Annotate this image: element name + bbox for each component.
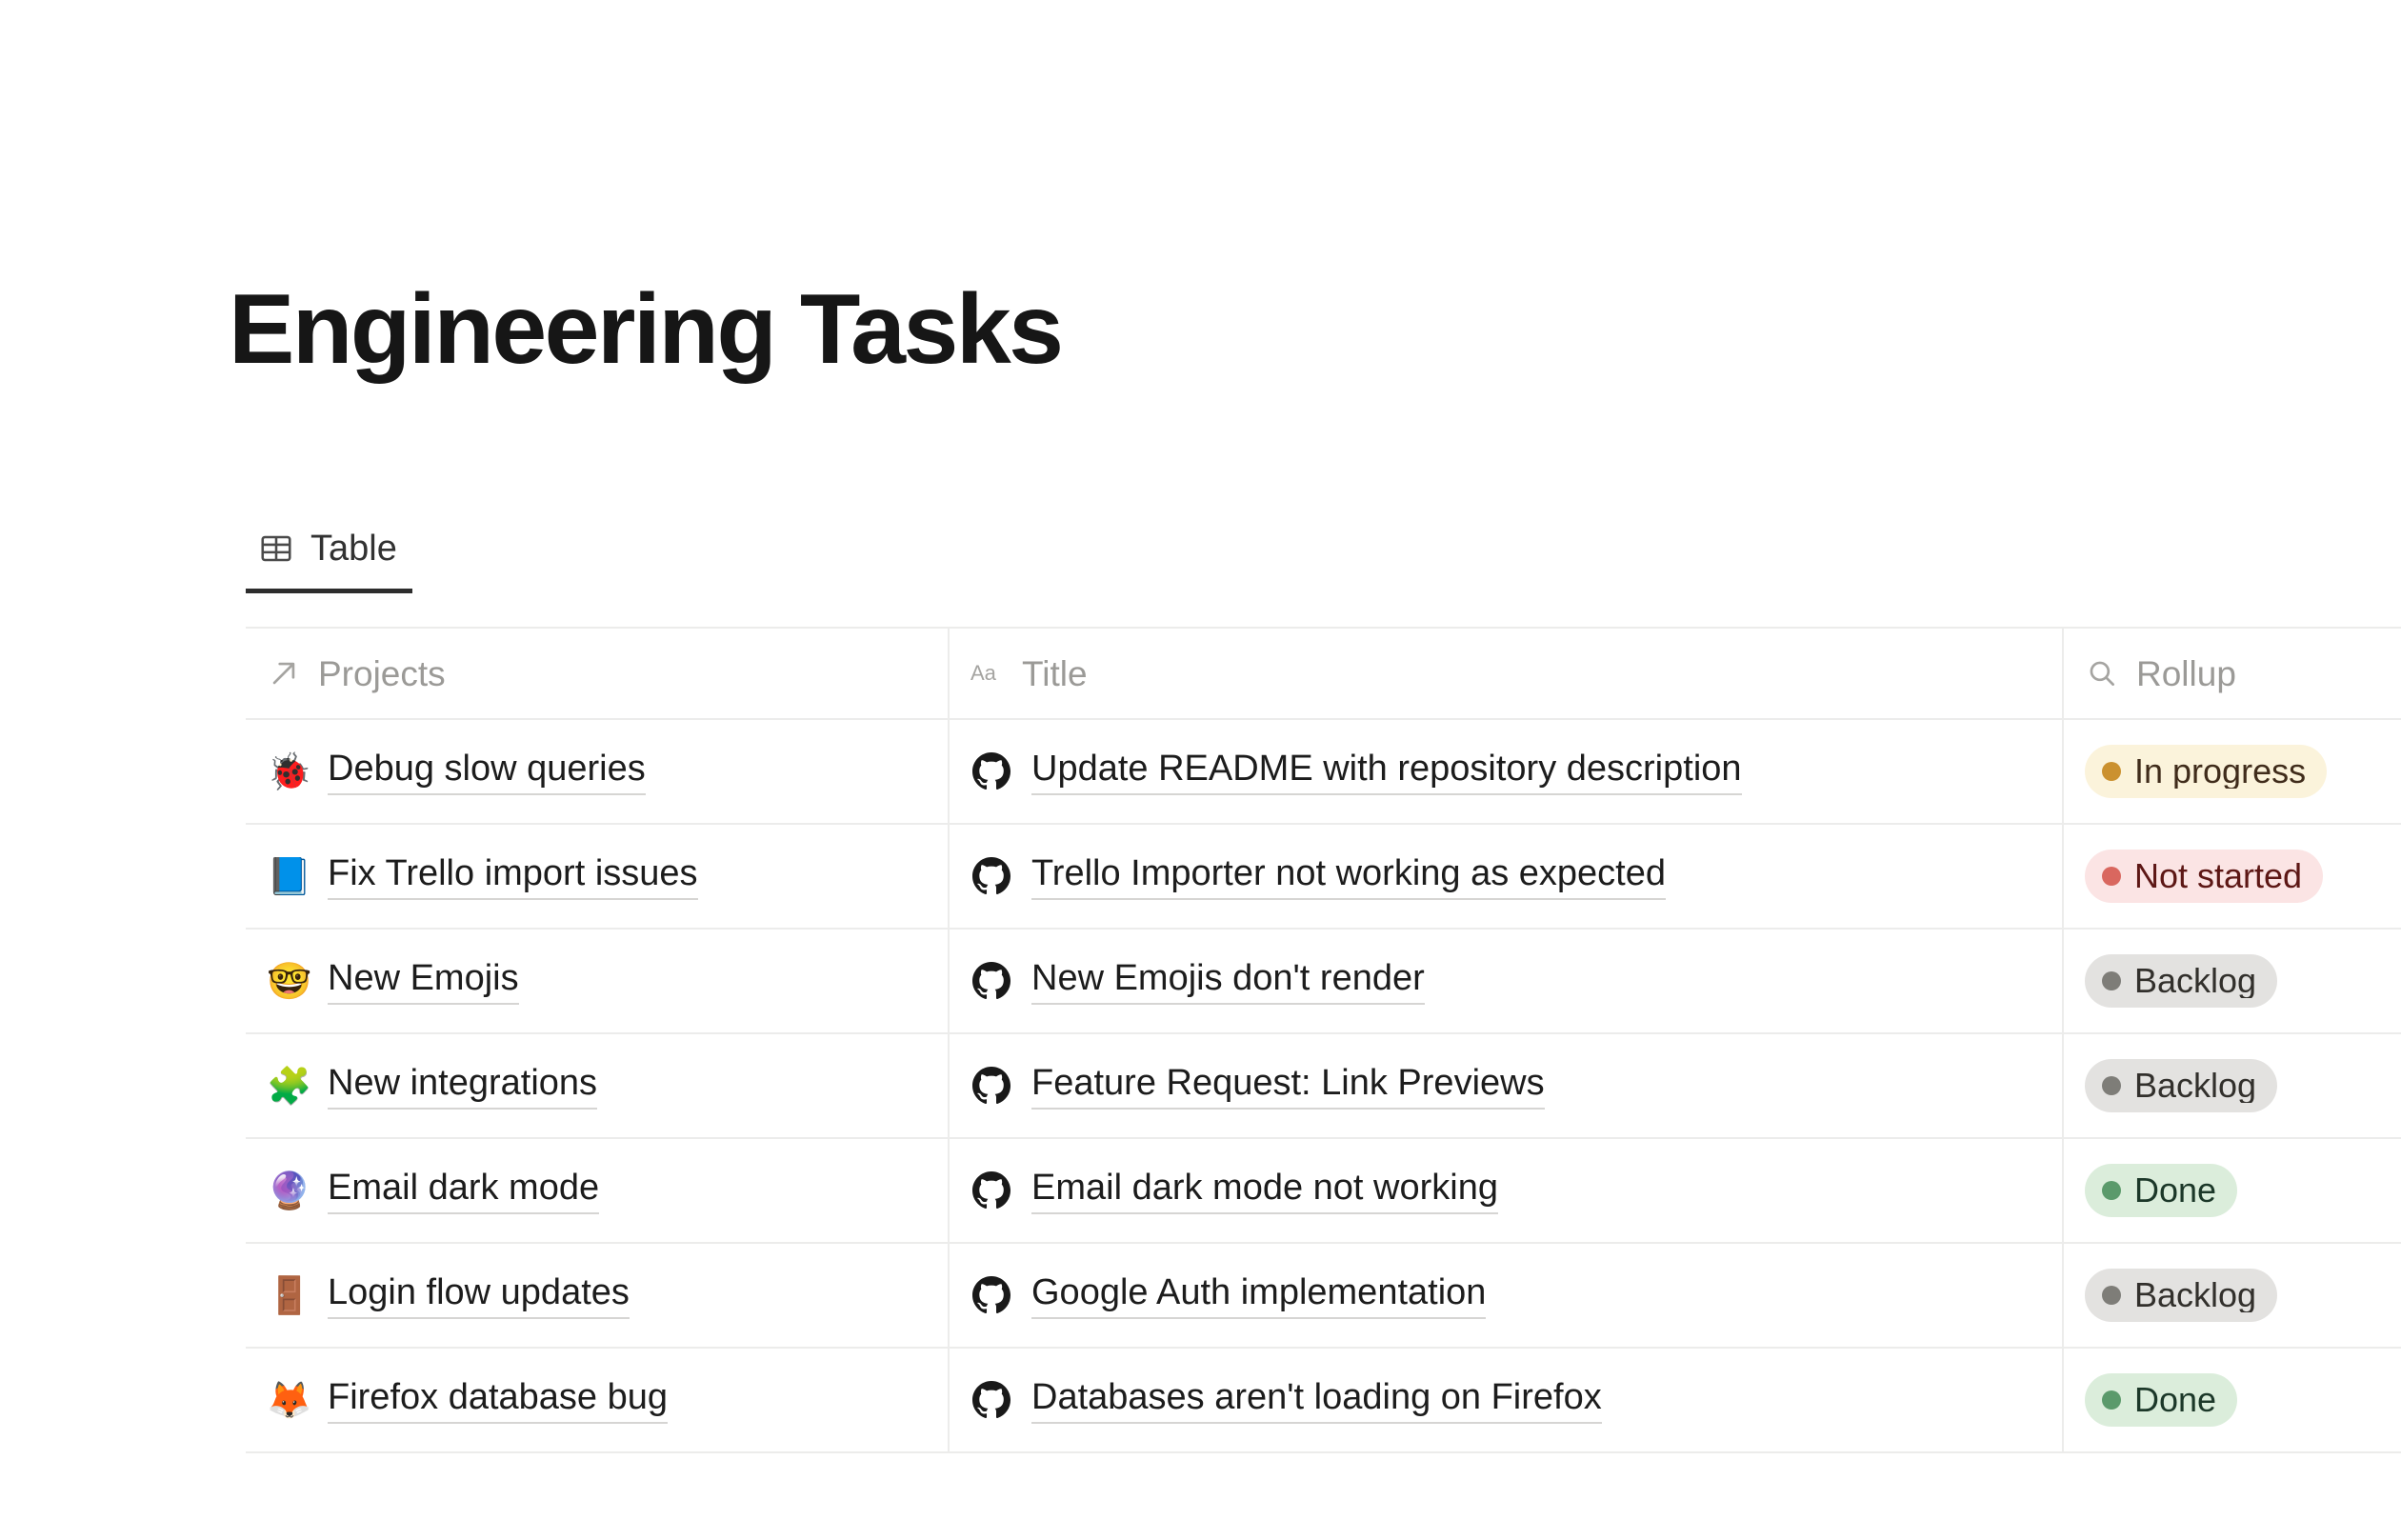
cell-title[interactable]: Google Auth implementation — [948, 1244, 2062, 1347]
project-link[interactable]: Login flow updates — [328, 1271, 630, 1319]
cell-title[interactable]: Databases aren't loading on Firefox — [948, 1349, 2062, 1451]
status-dot — [2102, 1181, 2121, 1200]
cell-rollup[interactable]: Backlog — [2062, 1244, 2401, 1347]
title-link[interactable]: Feature Request: Link Previews — [1031, 1062, 1545, 1110]
status-badge: Backlog — [2085, 1059, 2277, 1112]
github-icon — [970, 1065, 1012, 1107]
title-link[interactable]: Update README with repository descriptio… — [1031, 748, 1742, 795]
cell-rollup[interactable]: Done — [2062, 1349, 2401, 1451]
table-row[interactable]: 🚪 Login flow updates Google Auth impleme… — [246, 1244, 2401, 1349]
cell-projects[interactable]: 🐞 Debug slow queries — [246, 720, 948, 823]
github-icon — [970, 855, 1012, 897]
column-header-projects[interactable]: Projects — [246, 629, 948, 718]
title-link[interactable]: Databases aren't loading on Firefox — [1031, 1376, 1602, 1424]
table-row[interactable]: 📘 Fix Trello import issues Trello Import… — [246, 825, 2401, 930]
status-label: Backlog — [2134, 1278, 2256, 1312]
title-link[interactable]: Email dark mode not working — [1031, 1167, 1498, 1214]
status-label: Backlog — [2134, 1069, 2256, 1103]
project-link[interactable]: Debug slow queries — [328, 748, 646, 795]
cell-projects[interactable]: 🤓 New Emojis — [246, 930, 948, 1032]
database-table: Projects Aa Title — [246, 627, 2401, 1453]
project-link[interactable]: New Emojis — [328, 957, 519, 1005]
cell-title[interactable]: Feature Request: Link Previews — [948, 1034, 2062, 1137]
status-badge: Done — [2085, 1164, 2237, 1217]
column-header-title[interactable]: Aa Title — [948, 629, 2062, 718]
cell-title[interactable]: Update README with repository descriptio… — [948, 720, 2062, 823]
nerd-face-emoji: 🤓 — [267, 963, 309, 999]
column-header-title-label: Title — [1022, 656, 1088, 691]
status-badge: Done — [2085, 1373, 2237, 1427]
cell-projects[interactable]: 🦊 Firefox database bug — [246, 1349, 948, 1451]
status-dot — [2102, 1390, 2121, 1410]
status-badge: Backlog — [2085, 1269, 2277, 1322]
title-link[interactable]: Trello Importer not working as expected — [1031, 852, 1666, 900]
tab-table[interactable]: Table — [246, 526, 412, 593]
column-header-projects-label: Projects — [318, 656, 446, 691]
relation-arrow-icon — [267, 656, 301, 690]
status-badge: Not started — [2085, 850, 2323, 903]
lady-beetle-emoji: 🐞 — [267, 753, 309, 790]
status-badge: Backlog — [2085, 954, 2277, 1008]
table-header-row: Projects Aa Title — [246, 629, 2401, 720]
table-row[interactable]: 🦊 Firefox database bug Databases aren't … — [246, 1349, 2401, 1453]
status-label: In progress — [2134, 754, 2306, 789]
table-body: 🐞 Debug slow queries Update README with … — [246, 720, 2401, 1453]
puzzle-piece-emoji: 🧩 — [267, 1068, 309, 1104]
title-aa-icon: Aa — [970, 656, 1005, 690]
fox-emoji: 🦊 — [267, 1382, 309, 1418]
status-dot — [2102, 1286, 2121, 1305]
database-page: Engineering Tasks Table — [0, 0, 2401, 1540]
cell-rollup[interactable]: Backlog — [2062, 930, 2401, 1032]
crystal-ball-emoji: 🔮 — [267, 1172, 309, 1209]
status-dot — [2102, 762, 2121, 781]
status-dot — [2102, 1076, 2121, 1095]
github-icon — [970, 1379, 1012, 1421]
status-badge: In progress — [2085, 745, 2327, 798]
door-emoji: 🚪 — [267, 1277, 309, 1313]
cell-rollup[interactable]: Not started — [2062, 825, 2401, 928]
status-dot — [2102, 867, 2121, 886]
cell-projects[interactable]: 🚪 Login flow updates — [246, 1244, 948, 1347]
cell-projects[interactable]: 🔮 Email dark mode — [246, 1139, 948, 1242]
title-link[interactable]: New Emojis don't render — [1031, 957, 1425, 1005]
blue-book-emoji: 📘 — [267, 858, 309, 894]
cell-rollup[interactable]: Backlog — [2062, 1034, 2401, 1137]
table-row[interactable]: 🤓 New Emojis New Emojis don't render Bac… — [246, 930, 2401, 1034]
column-header-rollup[interactable]: Rollup — [2062, 629, 2401, 718]
view-tab-bar: Table — [246, 526, 412, 593]
status-label: Not started — [2134, 859, 2302, 893]
cell-projects[interactable]: 🧩 New integrations — [246, 1034, 948, 1137]
cell-rollup[interactable]: In progress — [2062, 720, 2401, 823]
status-dot — [2102, 971, 2121, 990]
status-label: Done — [2134, 1173, 2216, 1208]
table-row[interactable]: 🔮 Email dark mode Email dark mode not wo… — [246, 1139, 2401, 1244]
column-header-rollup-label: Rollup — [2136, 656, 2236, 691]
project-link[interactable]: Firefox database bug — [328, 1376, 668, 1424]
project-link[interactable]: Email dark mode — [328, 1167, 599, 1214]
status-label: Done — [2134, 1383, 2216, 1417]
status-label: Backlog — [2134, 964, 2256, 998]
svg-text:Aa: Aa — [970, 661, 997, 685]
github-icon — [970, 1274, 1012, 1316]
project-link[interactable]: Fix Trello import issues — [328, 852, 698, 900]
cell-title[interactable]: Email dark mode not working — [948, 1139, 2062, 1242]
search-icon — [2085, 656, 2119, 690]
cell-rollup[interactable]: Done — [2062, 1139, 2401, 1242]
table-row[interactable]: 🐞 Debug slow queries Update README with … — [246, 720, 2401, 825]
tab-table-label: Table — [310, 530, 397, 567]
github-icon — [970, 1170, 1012, 1211]
cell-title[interactable]: Trello Importer not working as expected — [948, 825, 2062, 928]
table-icon — [257, 530, 295, 568]
cell-projects[interactable]: 📘 Fix Trello import issues — [246, 825, 948, 928]
page-title: Engineering Tasks — [229, 274, 1062, 385]
project-link[interactable]: New integrations — [328, 1062, 597, 1110]
table-row[interactable]: 🧩 New integrations Feature Request: Link… — [246, 1034, 2401, 1139]
github-icon — [970, 750, 1012, 792]
cell-title[interactable]: New Emojis don't render — [948, 930, 2062, 1032]
title-link[interactable]: Google Auth implementation — [1031, 1271, 1486, 1319]
github-icon — [970, 960, 1012, 1002]
